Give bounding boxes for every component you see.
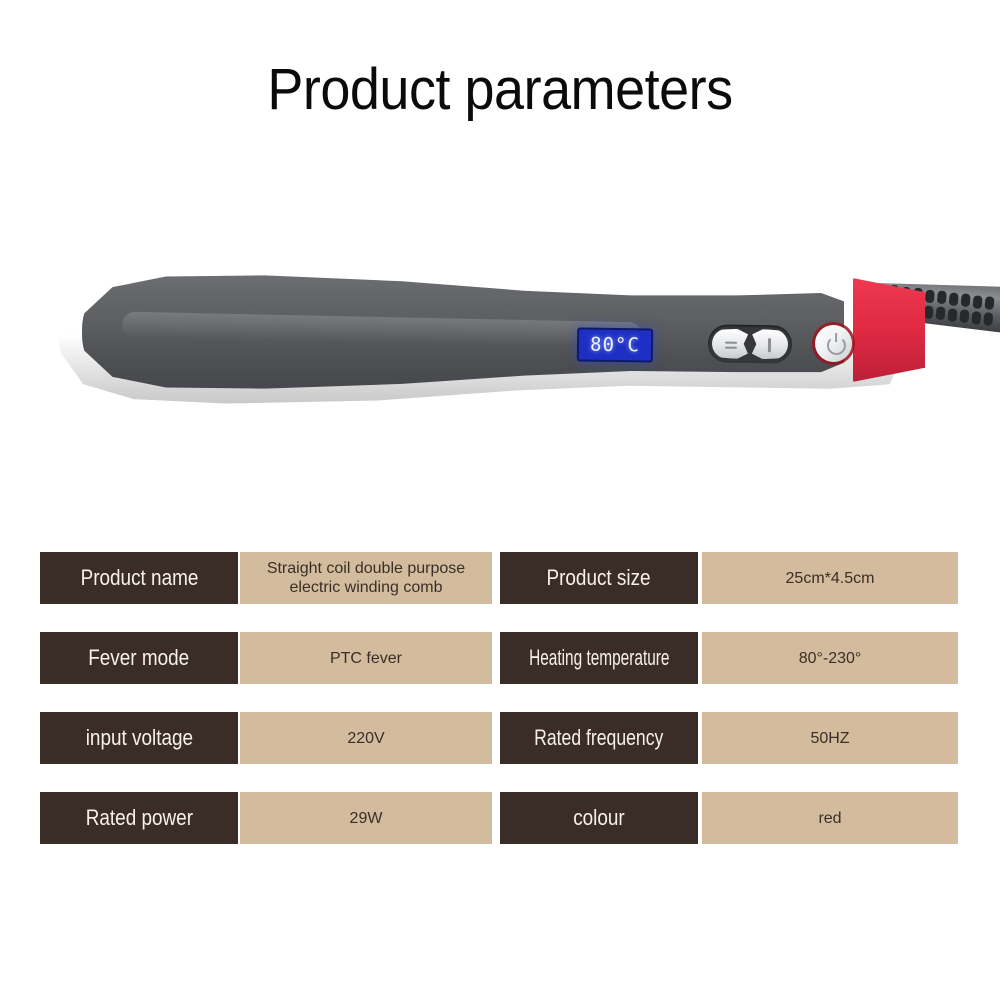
param-label-input-voltage: input voltage <box>40 712 238 764</box>
cord-rib <box>936 306 946 320</box>
cord-rib <box>947 308 957 322</box>
table-row: input voltage 220V Rated frequency 50HZ <box>40 712 960 764</box>
param-label-fever-mode: Fever mode <box>40 632 238 684</box>
cord-rib <box>937 290 947 304</box>
increase-temperature-button[interactable] <box>752 329 788 359</box>
table-row: Product name Straight coil double purpos… <box>40 552 960 604</box>
param-value-rated-power: 29W <box>240 792 492 844</box>
cord-rib <box>925 289 935 303</box>
decrease-temperature-button[interactable] <box>712 328 748 358</box>
param-value-input-voltage: 220V <box>240 712 492 764</box>
device-body: 80°C <box>58 235 898 435</box>
minus-icon-secondary <box>725 347 737 349</box>
param-value-rated-frequency: 50HZ <box>702 712 958 764</box>
param-value-colour: red <box>702 792 958 844</box>
cord-rib <box>983 312 993 326</box>
minus-icon <box>725 342 737 344</box>
param-label-product-size: Product size <box>500 552 698 604</box>
panel-highlight <box>122 312 642 349</box>
product-image: 80°C <box>0 225 1000 455</box>
param-label-colour: colour <box>500 792 698 844</box>
cord-rib <box>949 292 959 306</box>
cord-rib <box>924 305 934 319</box>
temperature-rocker-buttons[interactable] <box>708 324 793 363</box>
temperature-display: 80°C <box>577 327 653 362</box>
cord-rib <box>961 293 971 307</box>
bar-icon <box>768 338 771 352</box>
param-value-heating-temperature: 80°-230° <box>702 632 958 684</box>
param-label-rated-frequency: Rated frequency <box>500 712 698 764</box>
param-value-product-name: Straight coil double purpose electric wi… <box>240 552 492 604</box>
page-title: Product parameters <box>35 56 965 124</box>
cord-rib <box>973 295 983 309</box>
table-row: Rated power 29W colour red <box>40 792 960 844</box>
param-value-product-size: 25cm*4.5cm <box>702 552 958 604</box>
power-icon <box>826 335 845 354</box>
temperature-value: 80°C <box>590 334 640 357</box>
table-row: Fever mode PTC fever Heating temperature… <box>40 632 960 684</box>
param-label-rated-power: Rated power <box>40 792 238 844</box>
param-label-heating-temperature: Heating temperature <box>500 632 698 684</box>
param-value-fever-mode: PTC fever <box>240 632 492 684</box>
param-label-product-name: Product name <box>40 552 238 604</box>
cord-rib <box>959 309 969 323</box>
product-parameters-table: Product name Straight coil double purpos… <box>40 552 960 872</box>
cord-rib <box>985 296 995 310</box>
cord-rib <box>971 311 981 325</box>
